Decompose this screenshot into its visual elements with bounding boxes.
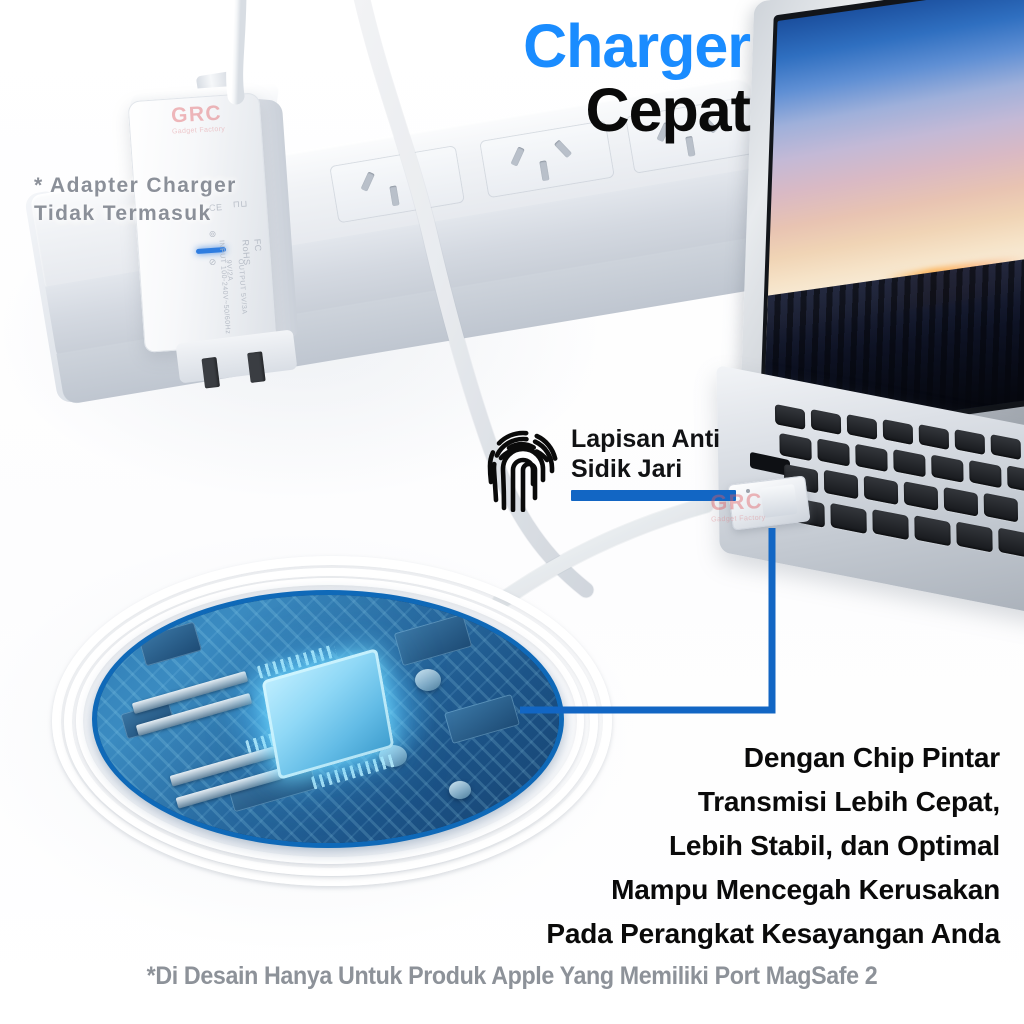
description-line: Transmisi Lebih Cepat, xyxy=(360,780,1000,824)
certification-marks: ⊚ xyxy=(208,228,217,241)
magsafe-connector-tip xyxy=(760,484,797,518)
adapter-spec-text: OUTPUT 5V/3A 9V/2A xyxy=(222,259,251,334)
adapter-not-included-note: * Adapter Charger Tidak Termasuk xyxy=(34,172,254,228)
fingerprint-icon xyxy=(487,424,559,512)
description-line: Pada Perangkat Kesayangan Anda xyxy=(360,912,1000,956)
footer-disclaimer: *Di Desain Hanya Untuk Produk Apple Yang… xyxy=(36,962,988,991)
power-strip-socket xyxy=(329,145,465,223)
watermark-brand: GRC xyxy=(710,489,765,515)
fp-line-1: Lapisan Anti xyxy=(571,425,720,453)
page-title: Charger Cepat xyxy=(420,14,750,142)
screen-bezel xyxy=(759,0,1024,444)
headline-line-2: Cepat xyxy=(420,78,750,142)
fp-line-2: Sidik Jari xyxy=(571,455,682,483)
headline-line-1: Charger xyxy=(420,14,750,78)
description-line: Mampu Mencegah Kerusakan xyxy=(360,868,1000,912)
watermark-logo: GRC Gadget Factory xyxy=(171,101,226,135)
description-line: Dengan Chip Pintar xyxy=(360,736,1000,780)
watermark-logo: GRC Gadget Factory xyxy=(710,489,766,523)
laptop-screen-wallpaper xyxy=(763,0,1024,437)
product-marketing-image: CE ⊓⊔ ⊚ ⊘ FC RoHS INPUT 100-240V~50/60Hz… xyxy=(0,0,1024,1024)
pcb-capacitor xyxy=(415,669,441,691)
watermark-brand: GRC xyxy=(171,101,225,128)
description-line: Lebih Stabil, dan Optimal xyxy=(360,824,1000,868)
ac-prong xyxy=(247,351,266,383)
product-description: Dengan Chip Pintar Transmisi Lebih Cepat… xyxy=(360,736,1000,956)
feature-anti-fingerprint-label: Lapisan Anti Sidik Jari xyxy=(571,424,757,484)
ac-prong xyxy=(201,357,220,389)
